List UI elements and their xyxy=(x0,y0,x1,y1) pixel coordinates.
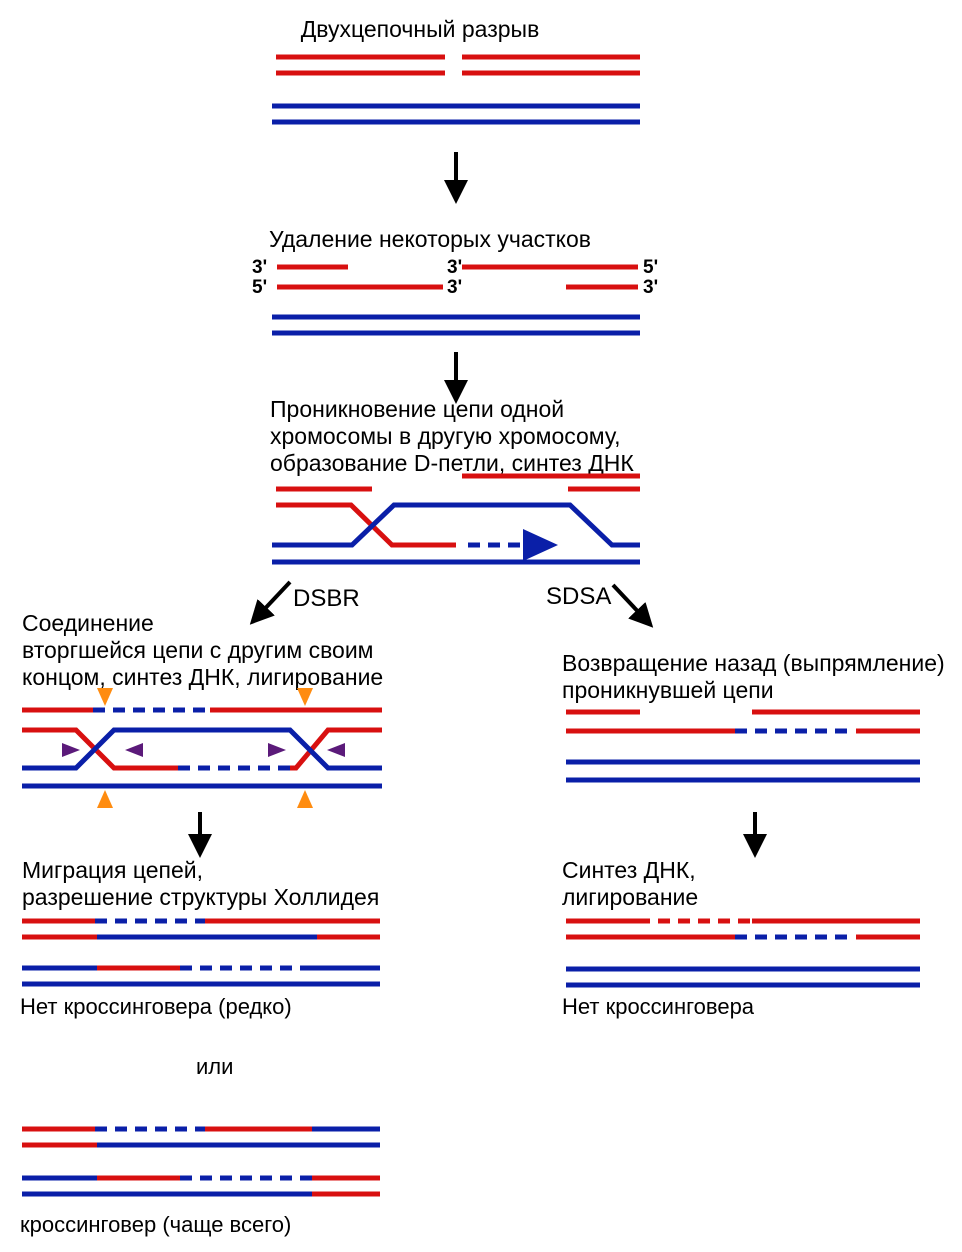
cut-site-triangle-top-left xyxy=(97,688,113,706)
cut-site-triangle-bottom-right xyxy=(297,790,313,808)
d-loop-blue-strand xyxy=(272,505,640,545)
branch-migration-arrow-4 xyxy=(327,743,345,757)
panel-1-strands xyxy=(272,57,640,122)
panel-4-holliday-junction xyxy=(22,688,382,808)
cut-site-triangle-bottom-left xyxy=(97,790,113,808)
panel-7-sdsa-displacement xyxy=(566,712,920,780)
dna-repair-diagram: Двухцепочный разрыв Удаление некоторых у… xyxy=(0,0,962,1252)
branch-migration-arrow-2 xyxy=(125,743,143,757)
panel-5-nocrossover-product xyxy=(22,921,380,984)
branch-migration-arrow-1 xyxy=(62,743,80,757)
branch-migration-arrow-3 xyxy=(268,743,286,757)
panel-2-strands xyxy=(272,267,640,333)
invading-red-strand xyxy=(276,505,456,545)
branch-arrow-sdsa xyxy=(613,585,645,619)
branch-arrow-dsbr xyxy=(258,582,290,616)
holliday-red-left xyxy=(22,730,178,768)
diagram-graphics xyxy=(0,0,962,1252)
panel-3-strands xyxy=(272,476,640,562)
panel-8-sdsa-product xyxy=(566,921,920,985)
cut-site-triangle-top-right xyxy=(297,688,313,706)
panel-6-crossover-product xyxy=(22,1129,380,1194)
